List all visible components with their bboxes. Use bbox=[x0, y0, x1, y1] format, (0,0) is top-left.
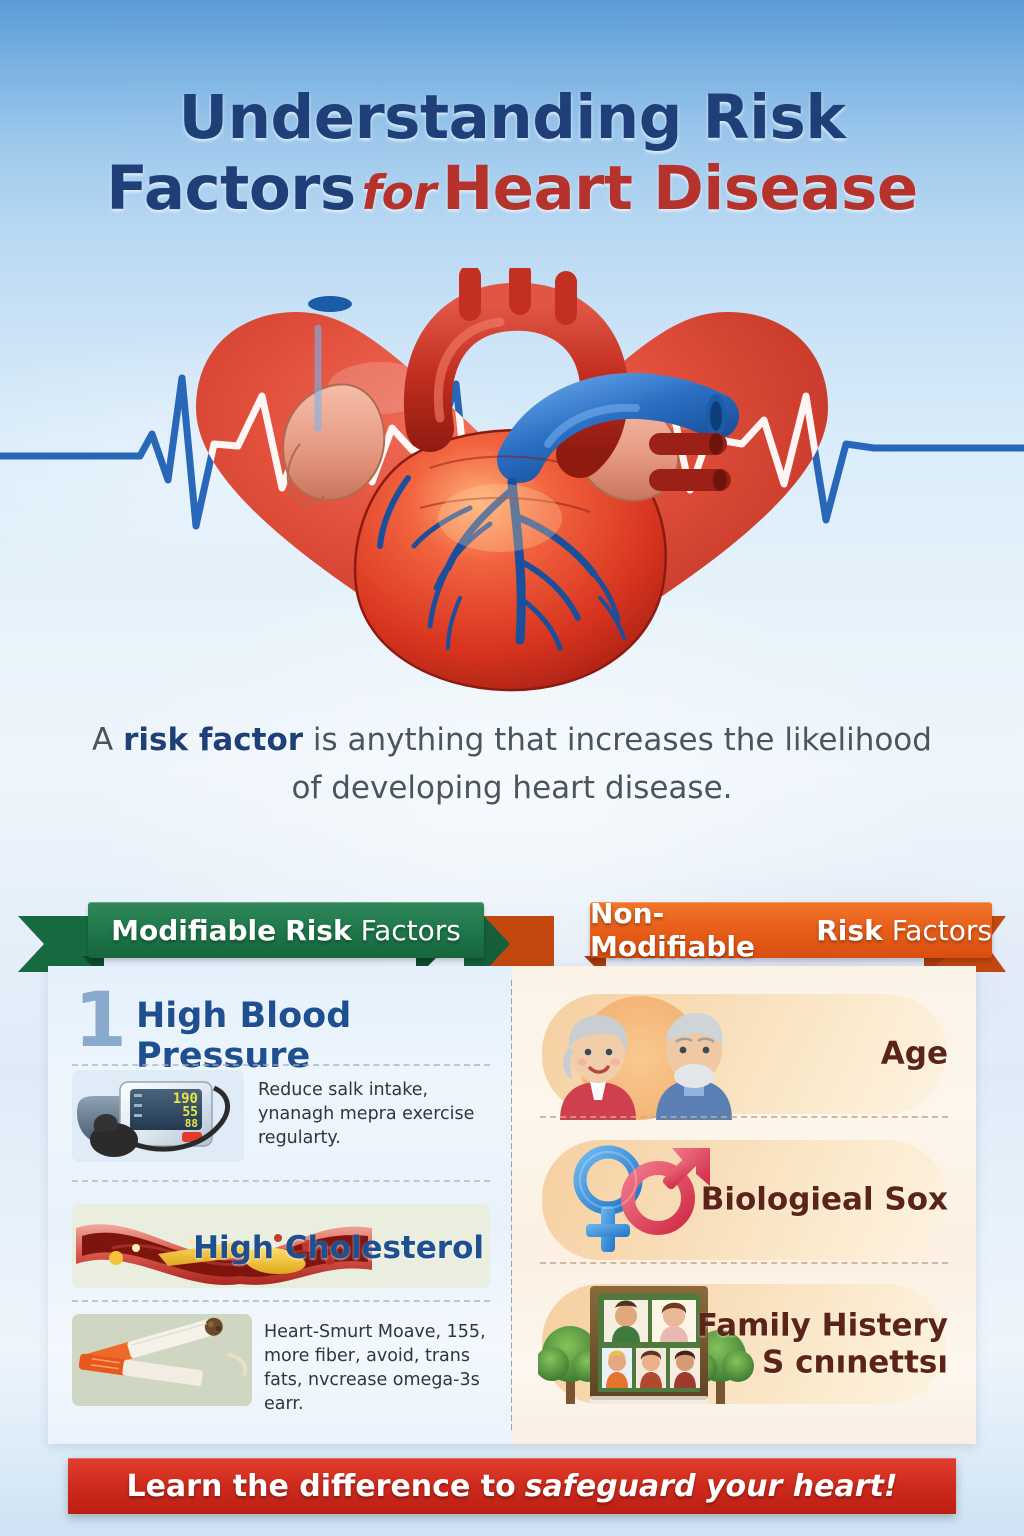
title-line-2: FactorsforHeart Disease bbox=[0, 157, 1024, 220]
footer-banner[interactable]: Learn the difference to safeguard your h… bbox=[68, 1458, 956, 1514]
subtitle-text: A risk factor is anything that increases… bbox=[90, 716, 934, 812]
infographic-poster: Understanding Risk FactorsforHeart Disea… bbox=[0, 0, 1024, 1536]
banner-non-modifiable-risk: Risk bbox=[816, 914, 882, 947]
banner-modifiable-factors: Factors bbox=[361, 914, 461, 947]
list-item-age[interactable]: Age bbox=[530, 988, 958, 1120]
card-separator bbox=[72, 1064, 490, 1066]
banner-non-modifiable-factors: Factors bbox=[892, 914, 992, 947]
blood-pressure-description: Reduce salk intake, ynanagh mepra exerci… bbox=[258, 1078, 484, 1150]
title-line-1: Understanding Risk bbox=[0, 86, 1024, 149]
banner-non-modifiable-bold: Non-Modifiable bbox=[590, 897, 807, 963]
card-separator bbox=[540, 1262, 948, 1264]
banner-modifiable-bold: Modifiable bbox=[111, 914, 276, 947]
modifiable-heading: 1 High Blood Pressure bbox=[74, 992, 504, 1056]
age-label: Age bbox=[881, 1036, 948, 1073]
list-item-smoking[interactable]: Heart-Smurt Moave, 155, more fiber, avoi… bbox=[72, 1314, 490, 1406]
blood-pressure-monitor-icon: 190 55 88 bbox=[72, 1070, 244, 1162]
card-separator bbox=[540, 1116, 948, 1118]
hero-illustration bbox=[0, 268, 1024, 698]
modifiable-number: 1 bbox=[74, 982, 127, 1058]
panel-non-modifiable: Age bbox=[512, 966, 976, 1444]
family-history-label: Family Histery S cnınettsı bbox=[697, 1307, 948, 1380]
banner-modifiable-body: Modifiable Risk Factors bbox=[88, 902, 484, 958]
banner-non-modifiable-body: Non-Modifiable Risk Factors bbox=[590, 902, 992, 958]
subtitle-bold: risk factor bbox=[123, 722, 303, 758]
title-factors: Factors bbox=[106, 153, 355, 224]
list-item-biological-sex[interactable]: Biologieal Sox bbox=[530, 1134, 958, 1266]
biological-sex-label: Biologieal Sox bbox=[701, 1182, 948, 1219]
card-separator bbox=[72, 1300, 490, 1302]
banner-modifiable-risk: Risk bbox=[285, 914, 351, 947]
page-title: Understanding Risk FactorsforHeart Disea… bbox=[0, 86, 1024, 221]
subtitle-pre: A bbox=[92, 722, 123, 758]
risk-factor-panels: 1 High Blood Pressure bbox=[48, 966, 976, 1444]
list-item-family-history[interactable]: Family Histery S cnınettsı bbox=[530, 1278, 958, 1410]
footer-text-plain: Learn the difference to bbox=[126, 1469, 515, 1504]
anatomical-heart-with-ecg-icon bbox=[0, 268, 1024, 698]
subtitle-post: is anything that increases the likelihoo… bbox=[291, 722, 931, 806]
ribbon-left-tail bbox=[18, 916, 96, 972]
footer-text-italic: safeguard your heart! bbox=[525, 1469, 898, 1504]
svg-text:88: 88 bbox=[185, 1117, 198, 1130]
card-separator bbox=[72, 1180, 490, 1182]
elderly-couple-icon bbox=[544, 988, 744, 1120]
panel-modifiable: 1 High Blood Pressure bbox=[48, 966, 512, 1444]
cigarettes-icon bbox=[72, 1314, 252, 1406]
title-for: for bbox=[356, 166, 442, 221]
list-item-high-cholesterol[interactable]: High Cholesterol bbox=[72, 1204, 490, 1288]
high-cholesterol-title: High Cholesterol bbox=[193, 1230, 484, 1266]
smoking-description: Heart-Smurt Moave, 155, more fiber, avoi… bbox=[264, 1320, 486, 1417]
list-item-blood-pressure[interactable]: 190 55 88 Reduce salk intake, ynanagh me… bbox=[72, 1070, 490, 1162]
title-heart-disease: Heart Disease bbox=[442, 153, 918, 224]
